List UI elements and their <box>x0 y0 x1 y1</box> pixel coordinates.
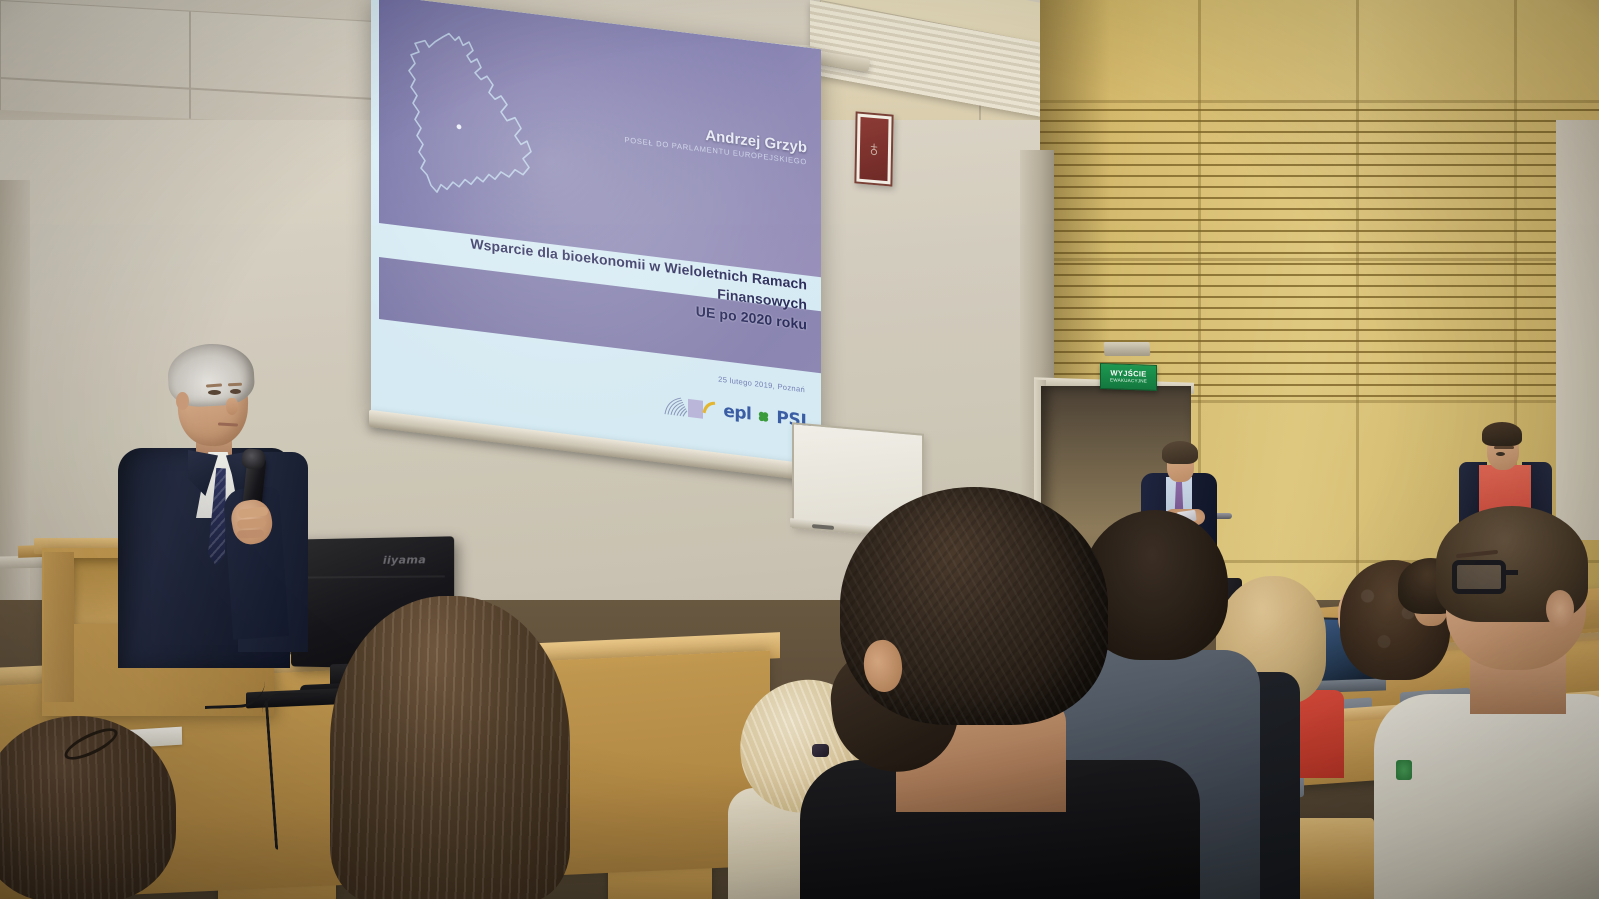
speaker-ear <box>176 392 189 410</box>
emergency-exit-sign: WYJŚCIE EWAKUACYJNE <box>1100 363 1157 391</box>
far-right-wall <box>1556 120 1599 540</box>
speaker-eyebrow-right <box>228 383 242 386</box>
back-right-man-hair <box>1482 422 1522 446</box>
monitor-brand-label: iiyama <box>383 553 426 567</box>
glasses-man-tshirt <box>1374 694 1599 899</box>
speaker-eye-right <box>230 389 241 394</box>
projection-screen: Andrzej Grzyb POSEŁ DO PARLAMENTU EUROPE… <box>371 0 831 490</box>
european-parliament-logo <box>661 388 717 427</box>
glasses-man-ear <box>1546 590 1574 628</box>
emblem-field: ♁ <box>859 117 888 181</box>
psl-clover-icon <box>757 409 770 424</box>
exit-sign-line2: EWAKUACYJNE <box>1110 377 1147 385</box>
speaker-nose <box>226 398 238 415</box>
presentation-slide: Andrzej Grzyb POSEŁ DO PARLAMENTU EUROPE… <box>371 0 821 467</box>
wielkopolska-map-outline <box>397 23 537 236</box>
speaker-eye-left <box>208 390 221 395</box>
back-right-man-eyebrow <box>1494 446 1514 449</box>
eagle-icon: ♁ <box>866 137 883 160</box>
eyeglasses-temple <box>1504 570 1518 575</box>
exit-sign-mount <box>1104 342 1151 356</box>
slide-logo-row: epl PSL <box>661 388 811 438</box>
back-right-man-eye <box>1496 452 1505 456</box>
projection-surface: Andrzej Grzyb POSEŁ DO PARLAMENTU EUROPE… <box>371 0 821 467</box>
doorway-man-hair <box>1162 441 1198 464</box>
cable <box>262 693 320 713</box>
speaker-finger <box>237 530 264 539</box>
epl-logo-text: epl <box>723 401 751 424</box>
eyeglasses-lens <box>1452 560 1506 594</box>
slide-date-place: 25 lutego 2019, Poznań <box>718 375 805 395</box>
polish-coat-of-arms: ♁ <box>854 111 893 186</box>
microphone-capsule <box>241 448 266 470</box>
monitor-bezel-line <box>299 575 445 578</box>
shirt-graphic <box>1396 760 1412 780</box>
hair-tie <box>812 744 829 757</box>
lecture-hall-photo: Andrzej Grzyb POSEŁ DO PARLAMENTU EUROPE… <box>0 0 1599 899</box>
left-attendee-2-hair-texture <box>330 596 570 899</box>
lectern-side-panel <box>44 552 74 702</box>
